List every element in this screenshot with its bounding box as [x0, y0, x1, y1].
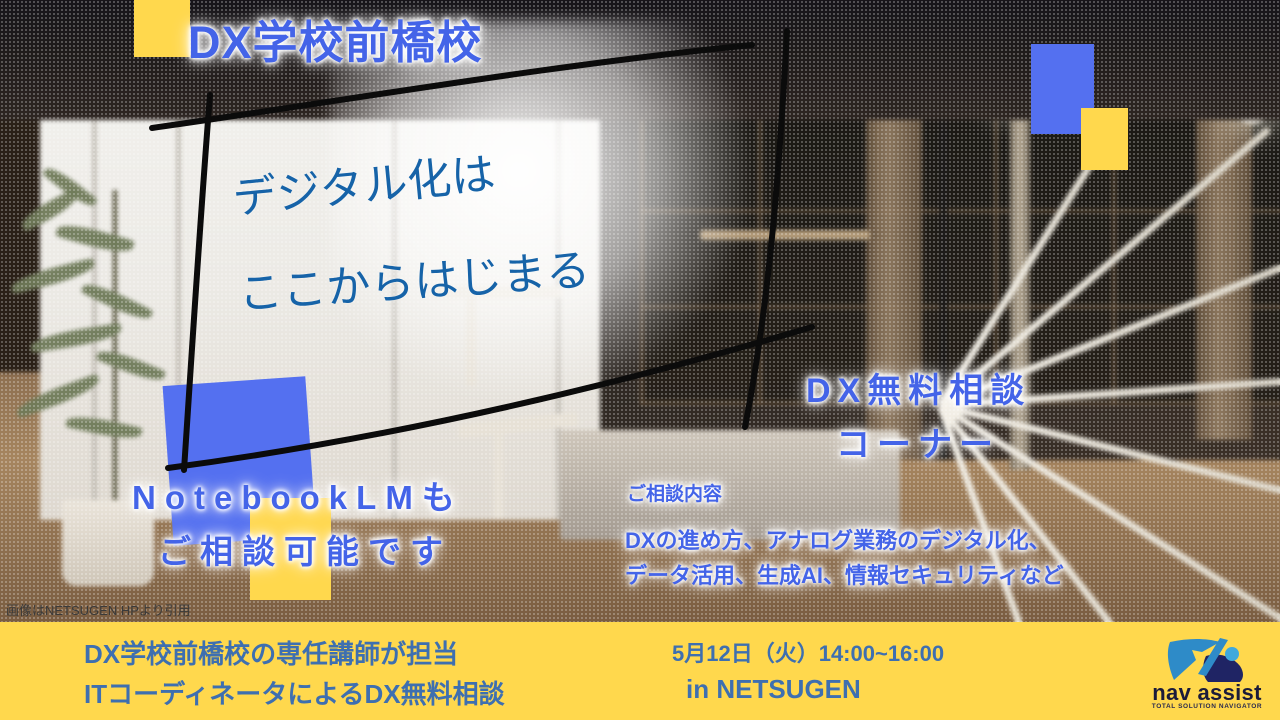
free-consultation-corner-line-1: DX無料相談 — [806, 363, 1031, 412]
notebooklm-line-1: NotebookLMも — [132, 471, 464, 519]
nav-assist-logo-mark — [1162, 636, 1254, 684]
frame-line-bottom — [168, 327, 812, 468]
nav-assist-logo-tagline: TOTAL SOLUTION NAVIGATOR — [1148, 703, 1266, 710]
banner-date-time: 5月12日（火）14:00~16:00 — [672, 636, 944, 668]
banner-line-1: DX学校前橋校の専任講師が担当 — [84, 634, 458, 671]
image-credit: 画像はNETSUGEN HPより引用 — [6, 600, 191, 619]
frame-line-left — [184, 95, 210, 470]
notebooklm-line-2: ご相談可能です — [158, 525, 452, 573]
decor-block-yellow-topright — [1081, 108, 1128, 170]
free-consultation-corner-line-2: コーナー — [836, 417, 1000, 466]
consultation-heading: ご相談内容 — [627, 479, 722, 506]
banner-line-2: ITコーディネータによるDX無料相談 — [84, 674, 505, 711]
bottom-banner: DX学校前橋校の専任講師が担当 ITコーディネータによるDX無料相談 5月12日… — [0, 622, 1280, 720]
poster-canvas: DX学校前橋校 デジタル化は ここからはじまる DX無料相談 コーナー Note… — [0, 0, 1280, 720]
nav-assist-logo: nav assist TOTAL SOLUTION NAVIGATOR — [1148, 636, 1266, 714]
banner-venue: in NETSUGEN — [686, 674, 861, 705]
consultation-line-1: DXの進め方、アナログ業務のデジタル化、 — [625, 523, 1051, 555]
consultation-line-2: データ活用、生成AI、情報セキュリティなど — [625, 558, 1064, 590]
page-title: DX学校前橋校 — [188, 6, 483, 71]
decor-block-yellow-title — [134, 0, 190, 57]
frame-line-right — [745, 31, 787, 427]
